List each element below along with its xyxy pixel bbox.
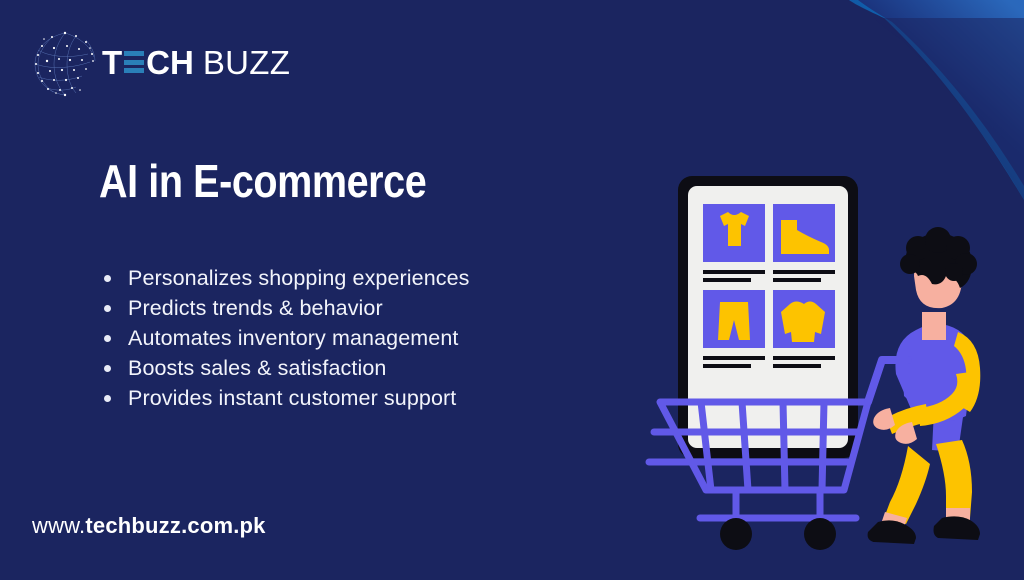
bullet-dot-icon bbox=[104, 335, 111, 342]
bullet-dot-icon bbox=[104, 275, 111, 282]
globe-network-icon bbox=[32, 30, 98, 98]
list-item: Automates inventory management bbox=[100, 323, 470, 353]
product-card-shoe bbox=[773, 204, 835, 282]
logo-buzz-text: BUZZ bbox=[203, 46, 290, 79]
list-item-label: Automates inventory management bbox=[128, 326, 458, 350]
list-item-label: Predicts trends & behavior bbox=[128, 296, 383, 320]
bullet-dot-icon bbox=[104, 365, 111, 372]
brand-logo[interactable]: TCH BUZZ bbox=[32, 30, 262, 100]
shopper-person bbox=[868, 227, 981, 544]
feature-list: Personalizes shopping experiences Predic… bbox=[100, 263, 470, 413]
list-item: Predicts trends & behavior bbox=[100, 293, 470, 323]
url-prefix: www. bbox=[32, 513, 85, 538]
cart-wheel bbox=[720, 518, 752, 550]
product-card-shorts bbox=[703, 290, 765, 368]
url-domain: techbuzz.com.pk bbox=[85, 513, 265, 538]
list-item: Boosts sales & satisfaction bbox=[100, 353, 470, 383]
bullet-dot-icon bbox=[104, 395, 111, 402]
page-title: AI in E-commerce bbox=[99, 154, 426, 208]
product-card-sweater bbox=[773, 290, 835, 368]
poster-canvas: TCH BUZZ AI in E-commerce Personalizes s… bbox=[0, 0, 1024, 580]
list-item-label: Personalizes shopping experiences bbox=[128, 266, 470, 290]
list-item: Personalizes shopping experiences bbox=[100, 263, 470, 293]
list-item: Provides instant customer support bbox=[100, 383, 470, 413]
logo-tech-text: TCH bbox=[102, 46, 194, 79]
footer-website-url[interactable]: www.techbuzz.com.pk bbox=[32, 513, 266, 539]
product-card-tshirt bbox=[703, 204, 765, 282]
list-item-label: Boosts sales & satisfaction bbox=[128, 356, 386, 380]
cart-wheel bbox=[804, 518, 836, 550]
brand-wordmark: TCH BUZZ bbox=[102, 44, 290, 80]
list-item-label: Provides instant customer support bbox=[128, 386, 456, 410]
logo-e-stripes bbox=[124, 50, 144, 74]
ecommerce-shopper-illustration bbox=[640, 160, 1024, 560]
bullet-dot-icon bbox=[104, 305, 111, 312]
